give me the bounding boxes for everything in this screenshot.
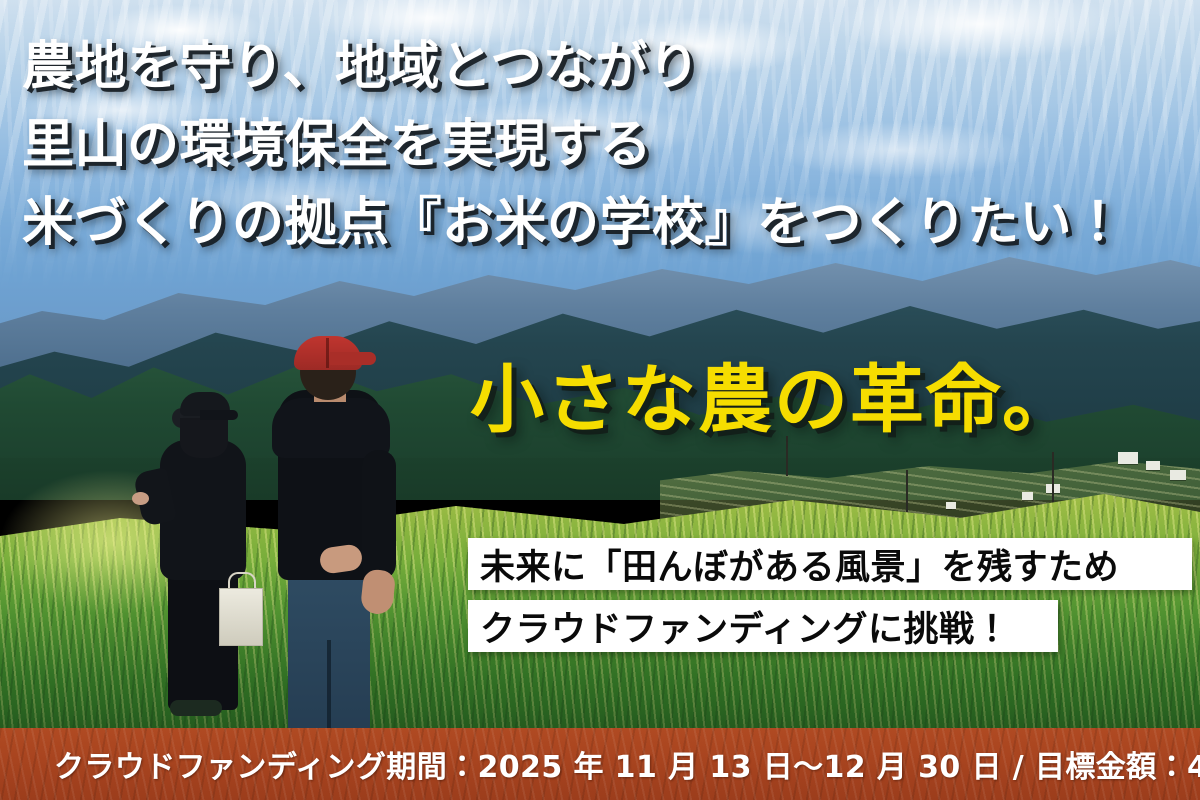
crowdfunding-hero-banner: 農地を守り、地域とつながり 里山の環境保全を実現する 米づくりの拠点『お米の学校… bbox=[0, 0, 1200, 800]
subtext-band-1: 未来に「田んぼがある風景」を残すため bbox=[468, 538, 1192, 590]
headline-line-3: 米づくりの拠点『お米の学校』をつくりたい！ bbox=[22, 184, 1192, 262]
headline-line-1: 農地を守り、地域とつながり bbox=[22, 28, 1192, 106]
woman-hand bbox=[132, 492, 149, 505]
utility-pole bbox=[906, 470, 908, 516]
man-cap-seam bbox=[326, 338, 329, 368]
headline: 農地を守り、地域とつながり 里山の環境保全を実現する 米づくりの拠点『お米の学校… bbox=[22, 28, 1192, 262]
village-house bbox=[1146, 461, 1160, 470]
village-house bbox=[1022, 492, 1033, 500]
woman-shoes bbox=[170, 700, 222, 716]
man-leg-seam bbox=[327, 640, 331, 736]
man-shoulders bbox=[272, 398, 390, 458]
tagline: 小さな農の革命。 bbox=[470, 352, 1190, 448]
white-paper-bag bbox=[219, 588, 263, 646]
man-cap-brim bbox=[330, 352, 376, 365]
woman-hair bbox=[180, 418, 228, 458]
man-arm bbox=[362, 450, 396, 580]
village-house bbox=[1118, 452, 1138, 464]
village-house bbox=[1170, 470, 1186, 480]
subtext-band-2: クラウドファンディングに挑戦！ bbox=[468, 600, 1058, 652]
footer-bar: クラウドファンディング期間：2025 年 11 月 13 日〜12 月 30 日… bbox=[0, 728, 1200, 800]
headline-line-2: 里山の環境保全を実現する bbox=[22, 106, 1192, 184]
village-house bbox=[946, 502, 956, 509]
woman-cap-brim bbox=[200, 410, 238, 420]
campaign-period-and-goal: クラウドファンディング期間：2025 年 11 月 13 日〜12 月 30 日… bbox=[54, 742, 1200, 786]
